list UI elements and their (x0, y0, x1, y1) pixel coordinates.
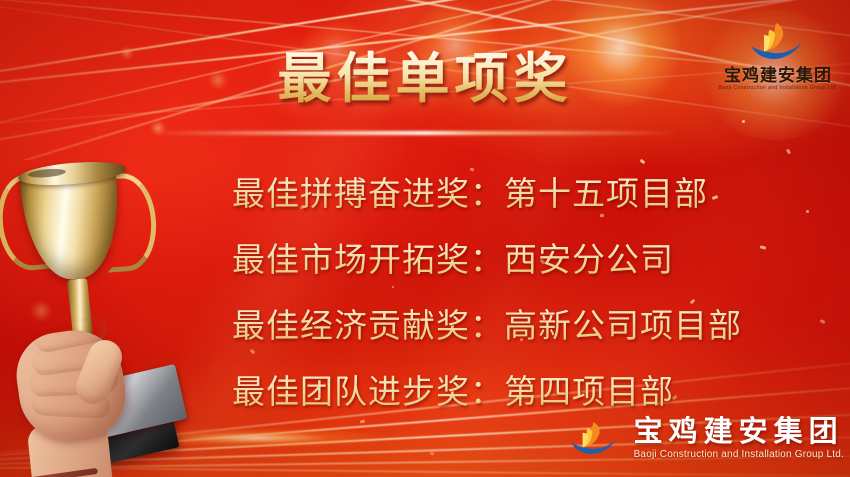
award-line: 最佳拼搏奋进奖：第十五项目部 (232, 162, 832, 228)
logo-top-right: 宝鸡建安集团 Baoji Construction and Installati… (714, 22, 842, 88)
trophy-cup (12, 157, 134, 289)
award-list: 最佳拼搏奋进奖：第十五项目部 最佳市场开拓奖：西安分公司 最佳经济贡献奖：高新公… (232, 162, 832, 426)
hand (8, 305, 158, 477)
logo-name-cn: 宝鸡建安集团 (634, 417, 844, 448)
company-sail-logo-icon (564, 419, 626, 459)
trophy-image (0, 155, 224, 477)
award-slide: 最佳单项奖 最佳拼搏奋进奖：第十五项目部 最佳市场开拓奖：西安分公司 最佳经济贡… (0, 0, 850, 477)
logo-name-en: Baoji Construction and Installation Grou… (714, 85, 842, 92)
logo-name-en: Baoji Construction and Installation Grou… (634, 448, 844, 461)
award-line: 最佳经济贡献奖：高新公司项目部 (232, 294, 832, 360)
logo-name-cn: 宝鸡建安集团 (714, 67, 842, 85)
award-line: 最佳市场开拓奖：西安分公司 (232, 228, 832, 294)
logo-bottom-right: 宝鸡建安集团 Baoji Construction and Installati… (564, 413, 844, 465)
company-sail-logo-icon (743, 22, 813, 62)
